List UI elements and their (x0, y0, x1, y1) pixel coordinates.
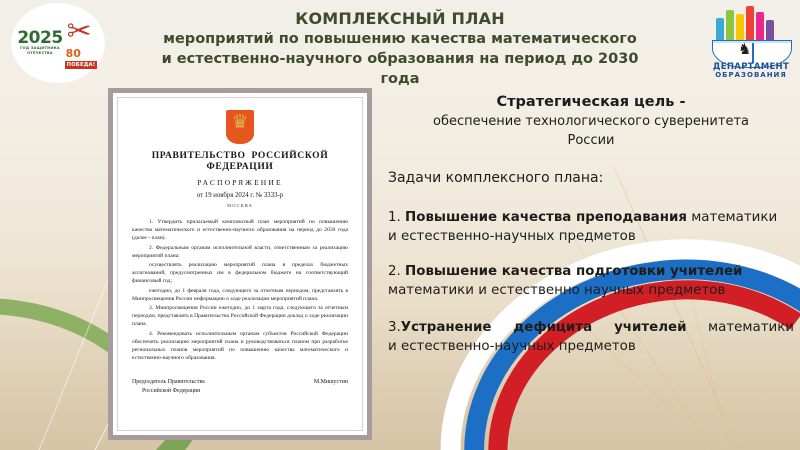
document-title: ПРАВИТЕЛЬСТВО РОССИЙСКОЙ ФЕДЕРАЦИИ (132, 150, 348, 172)
government-decree-document: ♛ ПРАВИТЕЛЬСТВО РОССИЙСКОЙ ФЕДЕРАЦИИ РАС… (108, 88, 372, 440)
document-page: ♛ ПРАВИТЕЛЬСТВО РОССИЙСКОЙ ФЕДЕРАЦИИ РАС… (117, 97, 363, 431)
task-1-rest: математики (687, 210, 777, 225)
task-item-1: 1. Повышение качества преподавания матем… (388, 208, 794, 246)
motherland-statue-icon: ✂ 80 ПОБЕДА! (65, 17, 99, 69)
task-3-first-line: 3.Устранение дефицита учителей математик… (388, 318, 794, 337)
department-of-education-logo: ♞ ДЕПАРТАМЕНТ ОБРАЗОВАНИЯ (708, 2, 794, 82)
document-paragraph: 2. Федеральным органам исполнительной вл… (132, 244, 348, 260)
task-2-first-line: 2. Повышение качества подготовки учителе… (388, 262, 794, 281)
header-title-line3: и естественно-научного образования на пе… (150, 49, 650, 89)
task-2-number: 2. (388, 264, 405, 279)
task-1-second-line: и естественно-научных предметов (388, 227, 794, 246)
task-2-second-line: математики и естественно научных предмет… (388, 281, 794, 300)
task-1-first-line: 1. Повышение качества преподавания матем… (388, 208, 794, 227)
victory-anniversary-logo: 2025 ГОД ЗАЩИТНИКА ОТЕЧЕСТВА ✂ 80 ПОБЕДА… (12, 4, 104, 82)
statue-glyph: ✂ (67, 17, 95, 51)
strategic-goal-title: Стратегическая цель - (388, 92, 794, 112)
task-item-3: 3.Устранение дефицита учителей математик… (388, 318, 794, 356)
document-paragraph: 1. Утвердить прилагаемый комплексный пла… (132, 218, 348, 243)
task-2-bold: Повышение качества подготовки учителей (405, 264, 742, 279)
strategic-goal-line1: обеспечение технологического суверенитет… (388, 112, 794, 131)
slide-header: КОМПЛЕКСНЫЙ ПЛАН мероприятий по повышени… (150, 8, 650, 89)
signature-name: М.Мишустин (314, 378, 348, 386)
victory-label: ПОБЕДА! (65, 61, 98, 69)
strategic-goal-block: Стратегическая цель - обеспечение технол… (388, 92, 794, 150)
task-1-bold: Повышение качества преподавания (405, 210, 687, 225)
logo-department-line2: ОБРАЗОВАНИЯ (708, 71, 794, 79)
gold-accent-line-1 (612, 164, 747, 450)
tasks-heading: Задачи комплексного плана: (388, 170, 794, 186)
task-3-second-line: и естественно-научных предметов (388, 337, 794, 356)
logo-subtitle-line2: ОТЕЧЕСТВА (17, 51, 62, 56)
document-city: МОСКВА (132, 203, 348, 208)
header-title-line2: мероприятий по повышению качества матема… (150, 29, 650, 49)
russian-coat-of-arms-icon: ♛ (226, 110, 254, 144)
task-3-number: 3. (388, 320, 401, 335)
task-1-number: 1. (388, 210, 405, 225)
signature-role-line2: Российской Федерации (132, 387, 262, 395)
task-item-2: 2. Повышение качества подготовки учителе… (388, 262, 794, 300)
document-signature-block: Председатель Правительства Российской Фе… (132, 378, 348, 395)
slide-canvas: 2025 ГОД ЗАЩИТНИКА ОТЕЧЕСТВА ✂ 80 ПОБЕДА… (0, 0, 800, 450)
horse-icon: ♞ (738, 42, 751, 57)
document-paragraph: 4. Рекомендовать исполнительным органам … (132, 330, 348, 363)
header-title-line1: КОМПЛЕКСНЫЙ ПЛАН (150, 8, 650, 29)
document-paragraph: ежегодно, до 1 февраля года, следующего … (132, 287, 348, 303)
gold-accent-line-4 (552, 295, 697, 435)
document-paragraph: 3. Минпросвещения России ежегодно, до 1 … (132, 304, 348, 329)
logo-year-label: 2025 (17, 30, 62, 46)
task-3-bold: Устранение дефицита учителей (401, 320, 687, 335)
document-date: от 19 ноября 2024 г. № 3333-р (132, 192, 348, 199)
document-kind: РАСПОРЯЖЕНИЕ (132, 178, 348, 187)
task-3-rest: математики (686, 320, 794, 335)
signature-role-line1: Председатель Правительства (132, 378, 262, 386)
double-headed-eagle-glyph: ♛ (226, 113, 254, 132)
anniversary-number: 80 (66, 49, 81, 59)
strategic-goal-line2: России (388, 131, 794, 150)
document-paragraph: осуществлять реализацию мероприятий план… (132, 261, 348, 286)
